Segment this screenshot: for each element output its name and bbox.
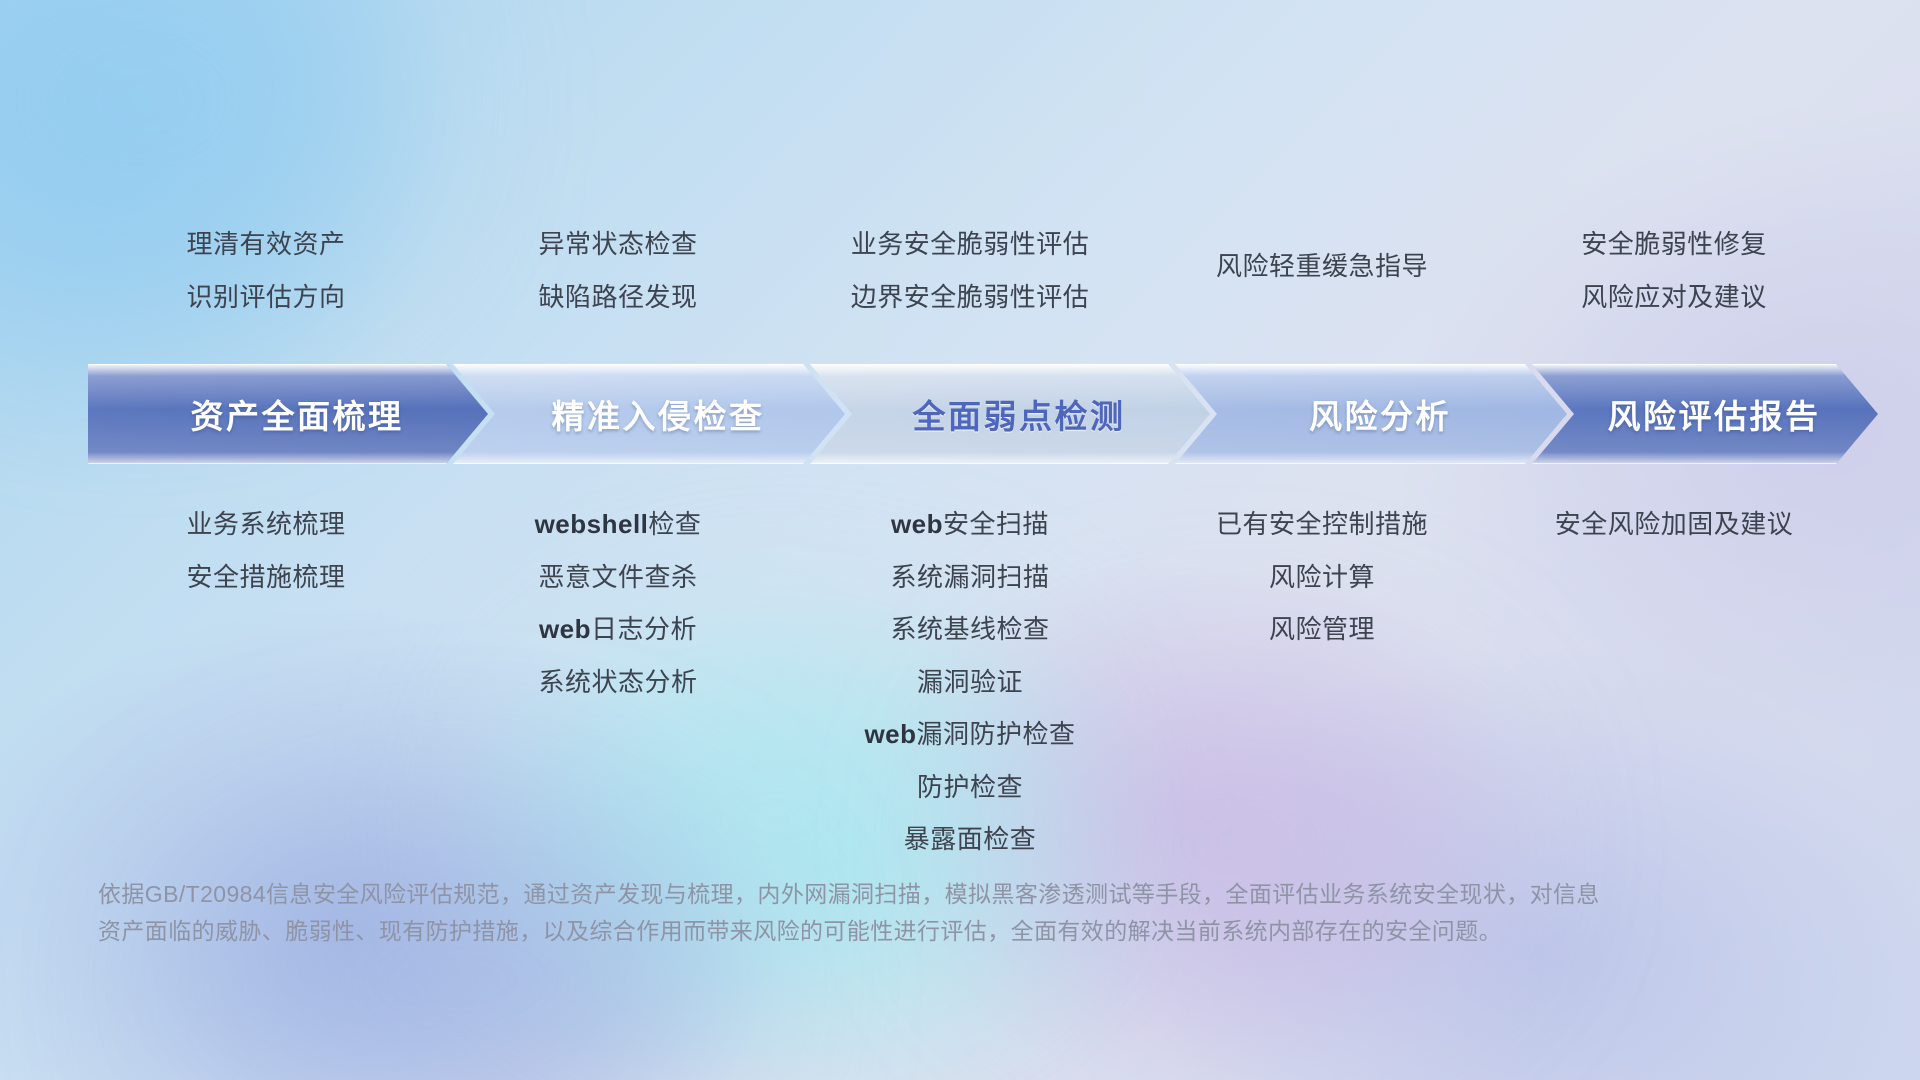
list-item: 业务系统梳理	[90, 505, 442, 545]
footer-line-2: 资产面临的威胁、脆弱性、现有防护措施，以及综合作用而带来风险的可能性进行评估，全…	[98, 913, 1738, 950]
chevron-stage-risk-report[interactable]: 风险评估报告	[1532, 364, 1878, 464]
list-item: 异常状态检查	[442, 225, 794, 265]
list-item: 风险计算	[1146, 558, 1498, 598]
list-item: web安全扫描	[794, 505, 1146, 545]
list-item: 风险应对及建议	[1498, 278, 1850, 318]
list-item: 风险管理	[1146, 610, 1498, 650]
stage-outputs-risk-analysis: 已有安全控制措施 风险计算 风险管理	[1146, 505, 1498, 860]
list-item: webshell检查	[442, 505, 794, 545]
list-item: 缺陷路径发现	[442, 278, 794, 318]
chevron-stage-risk-analysis[interactable]: 风险分析	[1175, 364, 1567, 464]
process-chevron-banner: 资产全面梳理 精准入侵检查 全面弱点检测 风险分析 风险评估报告	[88, 364, 1878, 464]
chevron-label: 风险分析	[1291, 390, 1451, 438]
stage-outputs-intrusion-check: webshell检查 恶意文件查杀 web日志分析 系统状态分析	[442, 505, 794, 860]
chevron-label: 全面弱点检测	[895, 390, 1126, 438]
footer-description: 依据GB/T20984信息安全风险评估规范，通过资产发现与梳理，内外网漏洞扫描，…	[98, 876, 1738, 951]
stage-inputs-row: 理清有效资产 识别评估方向 异常状态检查 缺陷路径发现 业务安全脆弱性评估 边界…	[90, 225, 1850, 317]
list-item: 风险轻重缓急指导	[1146, 247, 1498, 287]
chevron-label: 资产全面梳理	[173, 390, 404, 438]
list-item: 安全措施梳理	[90, 558, 442, 598]
list-item: 漏洞验证	[794, 663, 1146, 703]
stage-inputs-asset-inventory: 理清有效资产 识别评估方向	[90, 225, 442, 317]
list-item: web日志分析	[442, 610, 794, 650]
list-item: 安全脆弱性修复	[1498, 225, 1850, 265]
chevron-stage-intrusion-check[interactable]: 精准入侵检查	[453, 364, 845, 464]
footer-line-1: 依据GB/T20984信息安全风险评估规范，通过资产发现与梳理，内外网漏洞扫描，…	[98, 876, 1738, 913]
list-item: 已有安全控制措施	[1146, 505, 1498, 545]
stage-outputs-asset-inventory: 业务系统梳理 安全措施梳理	[90, 505, 442, 860]
list-item: 系统基线检查	[794, 610, 1146, 650]
slide-canvas: 理清有效资产 识别评估方向 异常状态检查 缺陷路径发现 业务安全脆弱性评估 边界…	[0, 0, 1920, 1080]
list-item: 防护检查	[794, 768, 1146, 808]
list-item: 边界安全脆弱性评估	[794, 278, 1146, 318]
chevron-label: 精准入侵检查	[534, 390, 765, 438]
stage-outputs-risk-report: 安全风险加固及建议	[1498, 505, 1850, 860]
stage-inputs-intrusion-check: 异常状态检查 缺陷路径发现	[442, 225, 794, 317]
list-item: 系统状态分析	[442, 663, 794, 703]
list-item: 识别评估方向	[90, 278, 442, 318]
list-item: 系统漏洞扫描	[794, 558, 1146, 598]
list-item: 理清有效资产	[90, 225, 442, 265]
stage-outputs-weakness-detection: web安全扫描 系统漏洞扫描 系统基线检查 漏洞验证 web漏洞防护检查 防护检…	[794, 505, 1146, 860]
stage-inputs-weakness-detection: 业务安全脆弱性评估 边界安全脆弱性评估	[794, 225, 1146, 317]
list-item: 暴露面检查	[794, 820, 1146, 860]
list-item: 恶意文件查杀	[442, 558, 794, 598]
chevron-stage-weakness-detection[interactable]: 全面弱点检测	[810, 364, 1210, 464]
list-item: web漏洞防护检查	[794, 715, 1146, 755]
list-item: 安全风险加固及建议	[1498, 505, 1850, 545]
stage-inputs-risk-report: 安全脆弱性修复 风险应对及建议	[1498, 225, 1850, 317]
chevron-label: 风险评估报告	[1590, 390, 1821, 438]
list-item: 业务安全脆弱性评估	[794, 225, 1146, 265]
stage-outputs-row: 业务系统梳理 安全措施梳理 webshell检查 恶意文件查杀 web日志分析 …	[90, 505, 1850, 860]
chevron-stage-asset-inventory[interactable]: 资产全面梳理	[88, 364, 488, 464]
stage-inputs-risk-analysis: 风险轻重缓急指导	[1146, 225, 1498, 317]
